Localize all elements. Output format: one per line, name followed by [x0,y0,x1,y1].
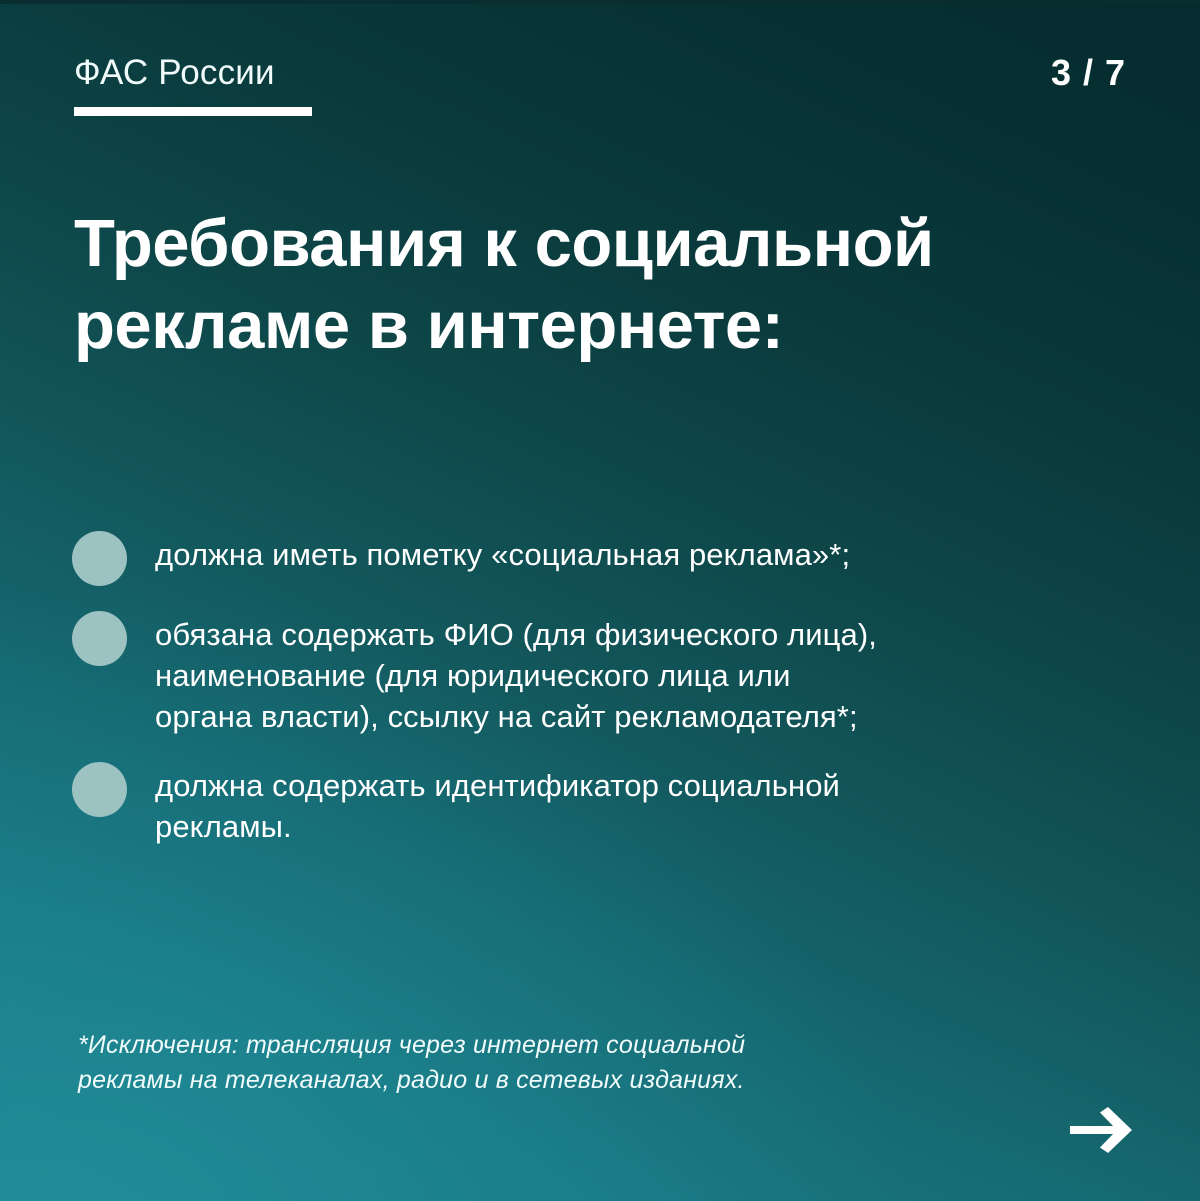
next-slide-button[interactable] [1068,1107,1134,1153]
requirements-list: должна иметь пометку «социальная реклама… [72,528,1132,869]
brand-name: ФАС России [74,52,312,94]
list-item-label: должна содержать идентификатор социально… [155,759,840,847]
list-item: обязана содержать ФИО (для физического л… [72,608,1132,737]
list-item-label: должна иметь пометку «социальная реклама… [155,528,850,575]
brand-block: ФАС России [74,52,312,116]
page-title: Требования к социальной рекламе в интерн… [74,203,1124,367]
slide-card: ФАС России 3 / 7 Требования к социальной… [0,0,1200,1201]
list-item: должна иметь пометку «социальная реклама… [72,528,1132,586]
slide-header: ФАС России 3 / 7 [74,52,1126,122]
list-item-label: обязана содержать ФИО (для физического л… [155,608,877,737]
bullet-dot-icon [72,762,127,817]
brand-underline-rule [74,107,312,116]
bullet-dot-icon [72,531,127,586]
page-indicator: 3 / 7 [1051,52,1126,94]
footnote-text: *Исключения: трансляция через интернет с… [78,1028,998,1098]
top-edge-strip [0,0,1200,4]
arrow-right-icon [1068,1107,1134,1153]
bullet-dot-icon [72,611,127,666]
list-item: должна содержать идентификатор социально… [72,759,1132,847]
